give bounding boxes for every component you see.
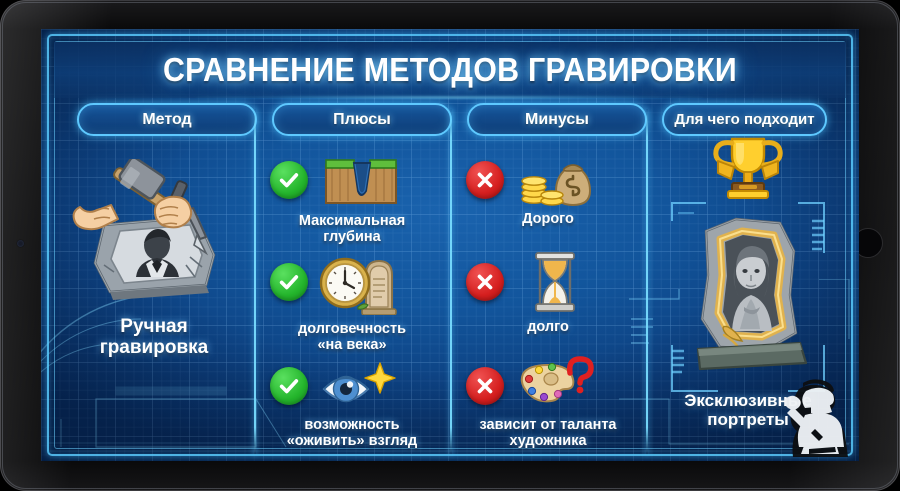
wood-v-groove-depth-icon	[324, 157, 398, 207]
pro-caption: долговечность «на века»	[256, 321, 448, 353]
method-caption: Ручная гравировка	[55, 316, 253, 359]
column-method: Ручная гравировка	[55, 141, 253, 459]
con-caption: зависит от таланта художника	[452, 417, 644, 449]
check-icon	[270, 161, 308, 199]
column-header-method[interactable]: Метод	[77, 103, 257, 136]
column-header-label: Для чего подходит	[674, 111, 814, 128]
page-title: СРАВНЕНИЕ МЕТОДОВ ГРАВИРОВКИ	[86, 51, 815, 89]
pro-caption: Максимальная глубина	[256, 213, 448, 245]
column-header-label: Плюсы	[333, 111, 391, 129]
pro-caption: возможность «оживить» взгляд	[256, 417, 448, 449]
money-bag-coins-icon	[518, 149, 600, 209]
clock-and-stone-tablet-icon	[318, 253, 400, 315]
title-glow-line	[197, 96, 704, 99]
con-caption-line1: долго	[452, 319, 644, 335]
column-header-label: Минусы	[525, 111, 589, 129]
front-camera-icon	[17, 240, 24, 247]
column-cons: Дорого долго	[452, 141, 644, 459]
con-caption: Дорого	[452, 211, 644, 227]
cross-icon	[466, 367, 504, 405]
con-caption-line1: Дорого	[452, 211, 644, 227]
stonemason-engraver-logo	[765, 373, 857, 461]
pro-caption-line2: «оживить» взгляд	[256, 433, 448, 449]
paint-palette-question-icon	[518, 353, 596, 411]
pro-caption-line1: Максимальная	[256, 213, 448, 229]
check-icon	[270, 367, 308, 405]
column-header-label: Метод	[142, 111, 191, 129]
con-item: Дорого	[452, 161, 644, 259]
column-header-suited-for[interactable]: Для чего подходит	[662, 103, 827, 136]
cross-icon	[466, 263, 504, 301]
hourglass-icon	[528, 251, 582, 313]
pro-caption-line1: возможность	[256, 417, 448, 433]
screen: СРАВНЕНИЕ МЕТОДОВ ГРАВИРОВКИ Метод Плюсы…	[41, 29, 859, 461]
method-caption-line2: гравировка	[55, 337, 253, 358]
con-caption-line2: художника	[452, 433, 644, 449]
check-icon	[270, 263, 308, 301]
column-header-cons[interactable]: Минусы	[467, 103, 647, 136]
cross-icon	[466, 161, 504, 199]
pro-caption-line2: «на века»	[256, 337, 448, 353]
column-header-pros[interactable]: Плюсы	[272, 103, 452, 136]
title-bar: СРАВНЕНИЕ МЕТОДОВ ГРАВИРОВКИ	[54, 42, 846, 98]
column-pros: Максимальная глубина	[256, 141, 448, 459]
pro-item: Максимальная глубина	[256, 161, 448, 259]
con-item: зависит от таланта художника	[452, 367, 644, 459]
hand-engraving-hammer-chisel-stone-portrait-icon	[64, 159, 244, 309]
con-item: долго	[452, 263, 644, 363]
pro-caption-line1: долговечность	[256, 321, 448, 337]
pro-item: долговечность «на века»	[256, 263, 448, 363]
pro-item: возможность «оживить» взгляд	[256, 367, 448, 459]
eye-sparkle-icon	[318, 357, 398, 411]
con-caption-line1: зависит от таланта	[452, 417, 644, 433]
con-caption: долго	[452, 319, 644, 335]
method-caption-line1: Ручная	[55, 316, 253, 337]
pro-caption-line2: глубина	[256, 229, 448, 245]
tablet-device: СРАВНЕНИЕ МЕТОДОВ ГРАВИРОВКИ Метод Плюсы…	[0, 0, 900, 491]
granite-monument-portrait-icon	[684, 209, 812, 389]
